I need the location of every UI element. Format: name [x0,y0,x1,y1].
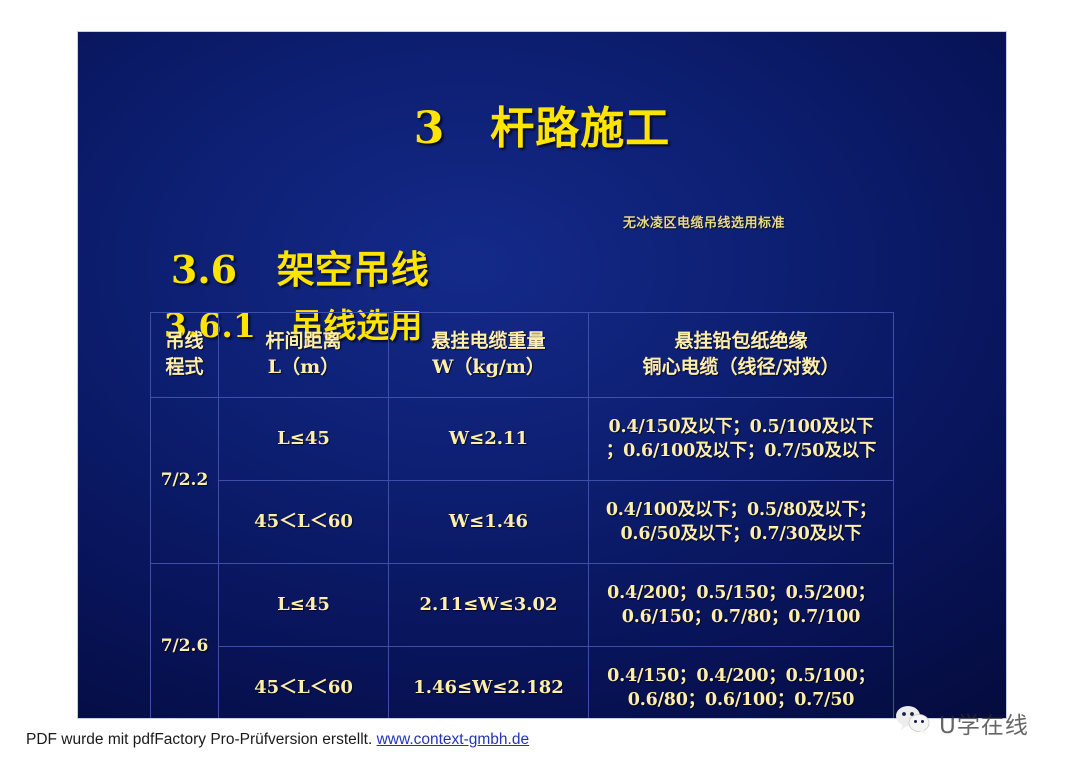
column-header-program: 吊线程式 [151,313,219,398]
cell-cables: 0.4/200；0.5/150；0.5/200；0.6/150；0.7/80；0… [589,564,894,647]
cell-span: 45＜L＜60 [219,647,389,719]
cell-program: 7/2.6 [151,564,219,719]
cell-weight: W≤1.46 [389,481,589,564]
cell-weight: 1.46≤W≤2.182 [389,647,589,719]
cell-span: 45＜L＜60 [219,481,389,564]
table-caption: 无冰凌区电缆吊线选用标准 [623,212,785,231]
cell-program: 7/2.2 [151,398,219,564]
footer-text: PDF wurde mit pdfFactory Pro-Prüfversion… [26,731,372,748]
table-row: 45＜L＜60 W≤1.46 0.4/100及以下；0.5/80及以下；0.6/… [151,481,894,564]
pdf-factory-footer: PDF wurde mit pdfFactory Pro-Prüfversion… [26,731,529,749]
table-header-row: 吊线程式 杆间距离L（m） 悬挂电缆重量W（kg/m） 悬挂铅包纸绝缘铜心电缆（… [151,313,894,398]
cell-cables: 0.4/150；0.4/200；0.5/100；0.6/80；0.6/100；0… [589,647,894,719]
table-row: 7/2.2 L≤45 W≤2.11 0.4/150及以下；0.5/100及以下；… [151,398,894,481]
page-title: 3 杆路施工 [78,92,1006,156]
column-header-span: 杆间距离L（m） [219,313,389,398]
presentation-slide: 3 杆路施工 3.6 架空吊线 3.6.1 吊线选用 无冰凌区电缆吊线选用标准 … [78,32,1006,718]
cell-cables: 0.4/150及以下；0.5/100及以下；0.6/100及以下；0.7/50及… [589,398,894,481]
cell-cables: 0.4/100及以下；0.5/80及以下；0.6/50及以下；0.7/30及以下 [589,481,894,564]
table-row: 45＜L＜60 1.46≤W≤2.182 0.4/150；0.4/200；0.5… [151,647,894,719]
cell-span: L≤45 [219,398,389,481]
table-row: 7/2.6 L≤45 2.11≤W≤3.02 0.4/200；0.5/150；0… [151,564,894,647]
footer-link[interactable]: www.context-gmbh.de [377,731,530,748]
cell-span: L≤45 [219,564,389,647]
cell-weight: 2.11≤W≤3.02 [389,564,589,647]
column-header-cables: 悬挂铅包纸绝缘铜心电缆（线径/对数） [589,313,894,398]
column-header-weight: 悬挂电缆重量W（kg/m） [389,313,589,398]
cable-suspension-spec-table: 吊线程式 杆间距离L（m） 悬挂电缆重量W（kg/m） 悬挂铅包纸绝缘铜心电缆（… [150,312,894,718]
cell-weight: W≤2.11 [389,398,589,481]
